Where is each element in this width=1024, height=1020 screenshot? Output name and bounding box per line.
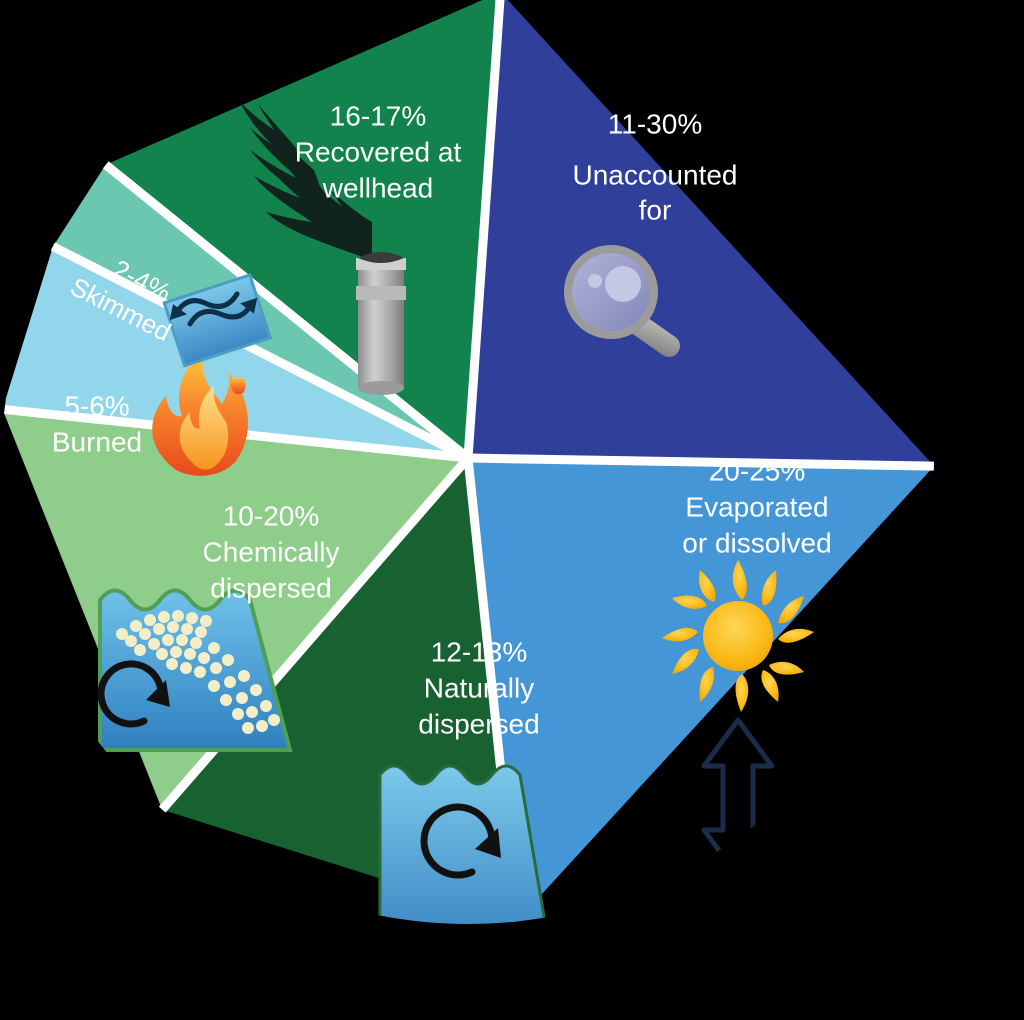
label-recovered-percent: 16-17% [330,100,427,131]
label-chemically-line1: Chemically [203,536,340,567]
label-chemically-line2: dispersed [210,572,331,603]
pie-slice-unaccounted[interactable] [468,0,934,466]
label-evaporated-percent: 20-25% [709,455,806,486]
label-naturally-line2: dispersed [418,708,539,739]
label-burned-percent: 5-6% [64,390,129,421]
label-naturally-line1: Naturally [424,672,534,703]
label-burned-line1: Burned [52,426,142,457]
label-naturally-percent: 12-13% [431,636,528,667]
wellhead-pipe [356,252,406,395]
label-evaporated-line2: or dissolved [682,527,831,558]
label-chemically-dispersed: 10-20% Chemically dispersed [203,500,340,603]
label-unaccounted-percent: 11-30% [608,108,702,139]
label-recovered-line2: wellhead [322,172,434,203]
updown-arrow-icon [704,720,772,876]
label-naturally-dispersed: 12-13% Naturally dispersed [418,636,539,739]
label-chemically-percent: 10-20% [223,500,320,531]
label-unaccounted-line2: for [639,194,672,225]
infographic-canvas: 11-30% Unaccounted for 20-25% Evaporated… [0,0,1024,1020]
oil-fate-pie-chart: 11-30% Unaccounted for 20-25% Evaporated… [0,0,1024,1020]
label-recovered-line1: Recovered at [295,136,462,167]
label-unaccounted-line1: Unaccounted [572,159,737,190]
water-circulation-icon [380,766,548,940]
label-evaporated-line1: Evaporated [685,491,828,522]
